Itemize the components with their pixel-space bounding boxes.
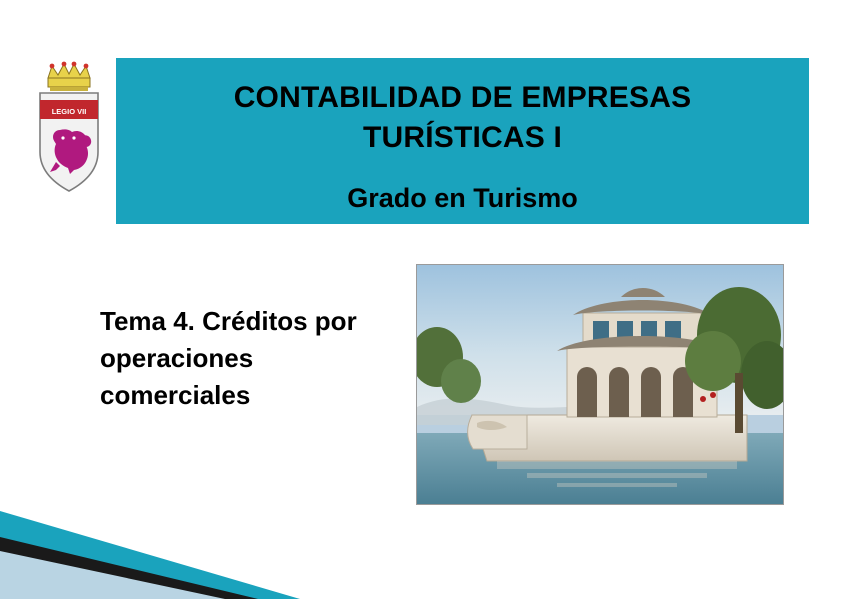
title-banner: CONTABILIDAD DE EMPRESAS TURÍSTICAS I Gr…: [116, 58, 809, 224]
subtitle-line: Grado en Turismo: [347, 180, 578, 216]
topic-text: Tema 4. Créditos por operaciones comerci…: [100, 303, 400, 414]
marble-boat-pavilion-photo: [416, 264, 784, 505]
presentation-slide: LEGIO VII CONTABILIDAD DE EMPRESAS TURÍS…: [0, 0, 848, 599]
decorative-ribbons: [0, 489, 330, 599]
title-line-1: CONTABILIDAD DE EMPRESAS: [234, 78, 692, 118]
svg-text:LEGIO VII: LEGIO VII: [52, 107, 87, 116]
coat-of-arms-icon: LEGIO VII: [30, 60, 108, 200]
title-line-2: TURÍSTICAS I: [363, 118, 562, 158]
